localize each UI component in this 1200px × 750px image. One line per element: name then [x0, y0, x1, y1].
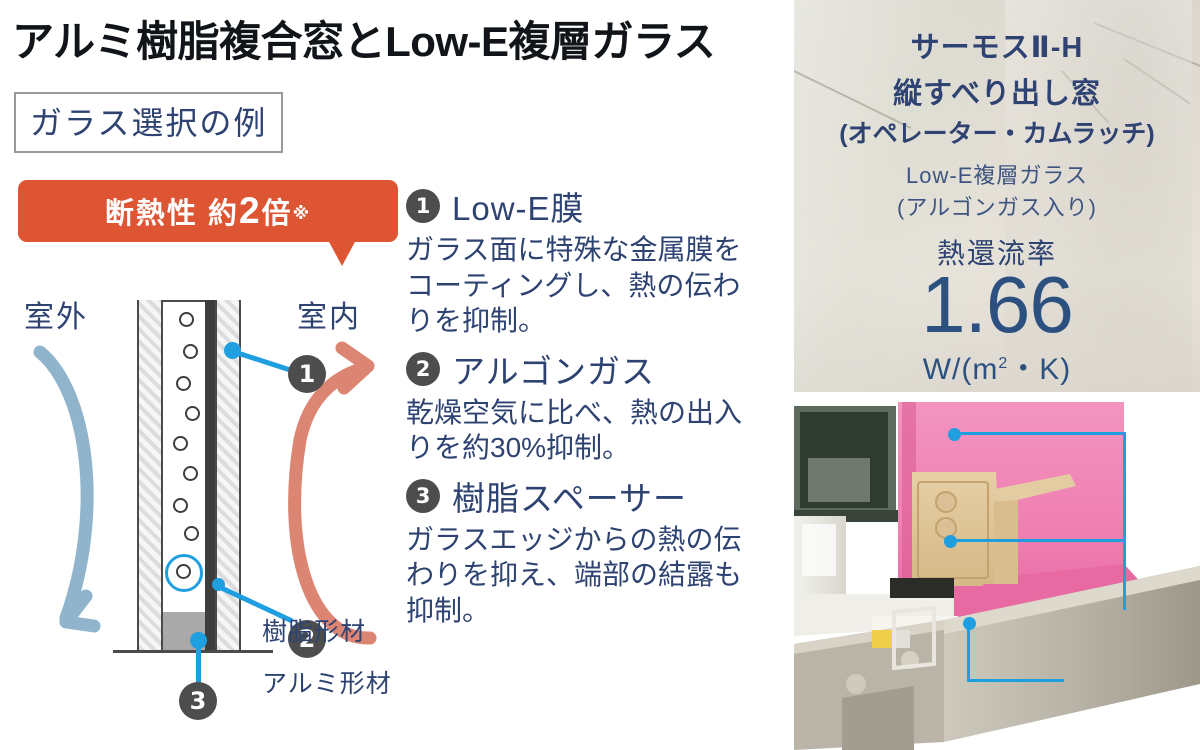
- feature-item-2: 2 アルゴンガス 乾燥空気に比べ、熱の出入りを約30%抑制。: [406, 345, 762, 466]
- argon-bubble: [173, 498, 188, 513]
- insulation-callout-banner: 断熱性 約2倍※: [18, 180, 398, 242]
- feature-item-1: 1 Low-E膜 ガラス面に特殊な金属膜をコーティングし、熱の伝わりを抑制。: [406, 182, 762, 339]
- glass-spec: Low-E複層ガラス: [794, 158, 1200, 190]
- unit-prefix: W/(m: [923, 353, 999, 386]
- feature-2-title: アルゴンガス: [452, 345, 655, 393]
- label-outside: 室外: [24, 292, 88, 336]
- feature-2-header: 2 アルゴンガス: [406, 345, 762, 393]
- u-value-number: 1.66: [794, 266, 1200, 344]
- label-resin-profile: 樹脂形材: [262, 612, 366, 648]
- banner-multiplier: 2: [239, 190, 262, 231]
- argon-bubble: [176, 376, 191, 391]
- alumi-marker-vertical: [967, 623, 970, 681]
- outer-glass-pane: [137, 300, 163, 650]
- sill-line: [113, 650, 273, 653]
- gas-cavity: [163, 300, 205, 650]
- gas-spec: (アルゴンガス入り): [794, 190, 1200, 222]
- alumi-marker-horizontal: [967, 679, 1064, 682]
- feature-1-body: ガラス面に特殊な金属膜をコーティングし、熱の伝わりを抑制。: [406, 232, 762, 339]
- banner-prefix: 断熱性 約: [105, 198, 239, 230]
- unit-superscript: 2: [998, 355, 1008, 372]
- resin-marker-top-line: [954, 432, 1126, 435]
- glass-unit-graphic: [794, 406, 898, 522]
- argon-bubble: [183, 466, 198, 481]
- arrow-outside-icon: [40, 352, 94, 626]
- argon-bubble: [173, 436, 188, 451]
- subtitle-box-label: ガラス選択の例: [30, 105, 267, 141]
- window-section-illustration: [794, 398, 1200, 750]
- callout-3-badge: 3: [179, 682, 217, 720]
- page-title: アルミ樹脂複合窓とLow‐E複層ガラス: [12, 8, 715, 69]
- feature-1-header: 1 Low-E膜: [406, 182, 762, 230]
- product-name: サーモスⅡ-H: [794, 24, 1200, 66]
- feature-3-body: ガラスエッジからの熱の伝わりを抑え、端部の結露も抑制。: [406, 522, 762, 629]
- resin-marker-vertical: [1123, 432, 1126, 610]
- feature-1-badge: 1: [406, 189, 440, 223]
- subtitle-box: ガラス選択の例: [14, 92, 283, 153]
- u-value-unit: W/(m2・K): [794, 344, 1200, 388]
- banner-suffix: 倍: [262, 198, 293, 230]
- feature-3-badge: 3: [406, 479, 440, 513]
- unit-suffix: ・K): [1008, 353, 1071, 386]
- banner-footnote-mark: ※: [293, 204, 312, 223]
- label-aluminium-profile: アルミ形材: [262, 664, 392, 700]
- banner-body: 断熱性 約2倍※: [18, 180, 398, 242]
- feature-item-3: 3 樹脂スペーサー ガラスエッジからの熱の伝わりを抑え、端部の結露も抑制。: [406, 472, 762, 629]
- argon-bubble: [185, 406, 200, 421]
- window-section-photo: [794, 398, 1200, 750]
- resin-marker-mid-line: [950, 539, 1126, 542]
- label-inside: 室内: [297, 292, 361, 336]
- infographic-root: アルミ樹脂複合窓とLow‐E複層ガラス ガラス選択の例 断熱性 約2倍※ 室外 …: [0, 0, 1200, 750]
- callout-3-leader: [196, 640, 201, 686]
- feature-2-badge: 2: [406, 352, 440, 386]
- argon-highlight-ring: [165, 554, 203, 592]
- window-subtype: (オペレーター・カムラッチ): [794, 114, 1200, 150]
- feature-list: 1 Low-E膜 ガラス面に特殊な金属膜をコーティングし、熱の伝わりを抑制。 2…: [406, 182, 762, 634]
- product-spec-panel: サーモスⅡ-H 縦すべり出し窓 (オペレーター・カムラッチ) Low-E複層ガラ…: [794, 0, 1200, 392]
- feature-3-title: 樹脂スペーサー: [452, 472, 687, 520]
- feature-1-title: Low-E膜: [452, 182, 585, 230]
- argon-bubble: [179, 312, 194, 327]
- feature-3-header: 3 樹脂スペーサー: [406, 472, 762, 520]
- banner-text: 断熱性 約2倍※: [105, 190, 311, 232]
- argon-bubble: [184, 526, 199, 541]
- banner-pointer-tail: [328, 240, 356, 266]
- feature-2-body: 乾燥空気に比べ、熱の出入りを約30%抑制。: [406, 395, 762, 466]
- argon-bubble: [183, 344, 198, 359]
- window-type: 縦すべり出し窓: [794, 70, 1200, 112]
- callout-1-badge: 1: [288, 355, 326, 393]
- product-spec-content: サーモスⅡ-H 縦すべり出し窓 (オペレーター・カムラッチ) Low-E複層ガラ…: [794, 0, 1200, 392]
